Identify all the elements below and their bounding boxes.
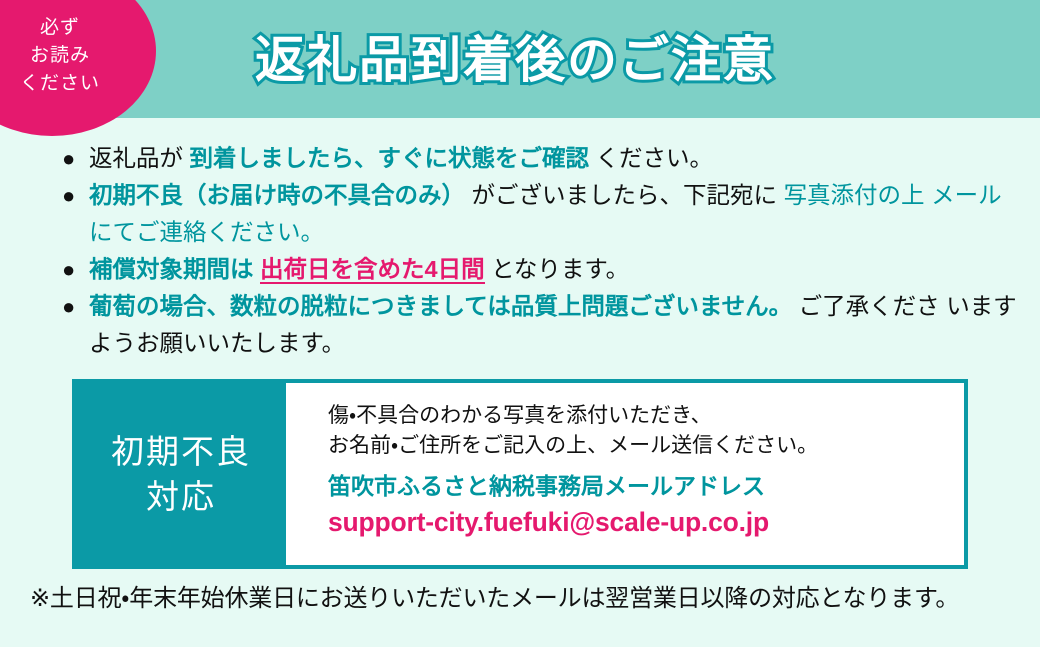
defect-response-label-line-2: 対応 [146, 474, 216, 519]
badge-line-2: お読み [0, 42, 120, 70]
header-banner: 返礼品到着後のご注意 [0, 0, 1040, 118]
list-item: ● 補償対象期間は 出荷日を含めた4日間 となります。 [62, 251, 1022, 288]
badge-line-1: 必ず [0, 14, 120, 42]
bullet-1-part-2: 到着しましたら、すぐに状態をご確認 [190, 145, 590, 171]
list-item: ● 葡萄の場合、数粒の脱粒につきましては品質上問題ございません。 ご了承くださ … [62, 288, 1022, 362]
bullet-3-part-3: となります。 [491, 256, 629, 282]
defect-response-label-line-1: 初期不良 [111, 429, 251, 474]
bullet-2-part-1: 初期不良（お届け時の不具合のみ） [89, 182, 465, 208]
bullet-1-part-1: 返礼品が [89, 145, 183, 171]
must-read-badge-text: 必ず お読み ください [0, 14, 120, 98]
footnote-text: ※土日祝・年末年始休業日にお送りいただいたメールは翌営業日以降の対応となります。 [30, 582, 959, 616]
defect-response-content: 傷・不具合のわかる写真を添付いただき、 お名前・ご住所をご記入の上、メール送信く… [286, 383, 964, 565]
bullet-4-part-1: 葡萄の場合、数粒の脱粒につきましては品質上問題ございません。 [89, 293, 792, 319]
list-item: ● 初期不良（お届け時の不具合のみ） がございましたら、下記宛に 写真添付の上 … [62, 177, 1022, 251]
bullet-marker-icon: ● [62, 251, 75, 288]
notice-bullet-list: ● 返礼品が 到着しましたら、すぐに状態をご確認 ください。 ● 初期不良（お届… [62, 140, 1022, 362]
support-email-address[interactable]: support-city.fuefuki@scale-up.co.jp [328, 505, 964, 539]
defect-response-box: 初期不良 対応 傷・不具合のわかる写真を添付いただき、 お名前・ご住所をご記入の… [72, 379, 968, 569]
instruction-line-1: 傷・不具合のわかる写真を添付いただき、 [328, 401, 964, 431]
bullet-1-part-3: ください。 [596, 145, 714, 171]
bullet-3-part-1: 補償対象期間は [89, 256, 254, 282]
bullet-marker-icon: ● [62, 288, 75, 325]
defect-response-label: 初期不良 対応 [76, 383, 286, 565]
instruction-line-2: お名前・ご住所をご記入の上、メール送信ください。 [328, 431, 964, 461]
bullet-4-part-2: ご了承くださ [799, 293, 940, 319]
bullet-marker-icon: ● [62, 177, 75, 214]
notice-flyer: { "banner": { "title": "返礼品到着後のご注意", "bg… [0, 0, 1040, 647]
bullet-marker-icon: ● [62, 140, 75, 177]
bullet-3-highlight: 出荷日を含めた4日間 [260, 256, 485, 284]
badge-line-3: ください [0, 70, 120, 98]
bullet-2-part-2: がございましたら、下記宛に [472, 182, 778, 208]
list-item: ● 返礼品が 到着しましたら、すぐに状態をご確認 ください。 [62, 140, 1022, 177]
mail-address-label: 笛吹市ふるさと納税事務局メールアドレス [328, 470, 964, 503]
bullet-2-part-3: 写真添付の上 [784, 182, 925, 208]
page-title: 返礼品到着後のご注意 [255, 20, 775, 92]
